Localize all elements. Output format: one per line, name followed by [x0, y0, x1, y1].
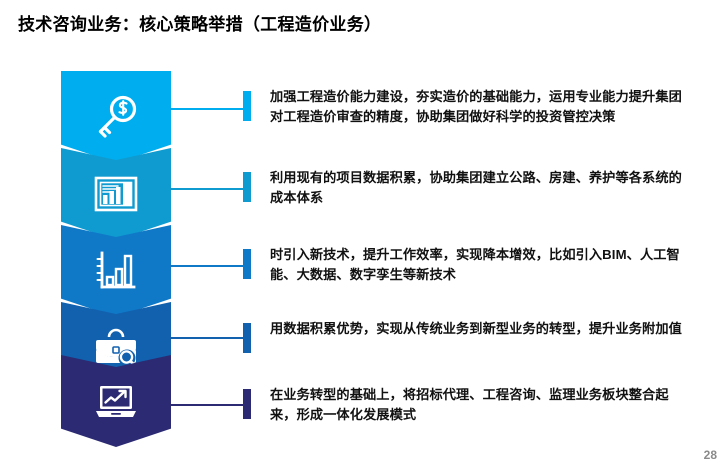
connector-line-4 [171, 337, 244, 339]
text-marker-3 [243, 249, 251, 279]
measure-text-1: 加强工程造价能力建设，夯实造价的基础能力，运用专业能力提升集团对工程造价审查的精… [270, 87, 690, 128]
connector-line-2 [171, 188, 244, 190]
text-marker-4 [243, 323, 251, 353]
page-title: 技术咨询业务：核心策略举措（工程造价业务） [18, 10, 381, 35]
connector-line-1 [171, 108, 244, 110]
text-marker-2 [243, 172, 251, 202]
strategy-chevron-stack [61, 71, 171, 447]
measure-text-4: 用数据积累优势，实现从传统业务到新型业务的转型，提升业务附加值 [270, 319, 690, 339]
measure-text-5: 在业务转型的基础上，将招标代理、工程咨询、监理业务板块整合起来，形成一体化发展模… [270, 385, 690, 426]
page-number: 28 [704, 448, 717, 462]
text-marker-5 [243, 389, 251, 419]
measure-text-3: 时引入新技术，提升工作效率，实现降本增效，比如引入BIM、人工智能、大数据、数字… [270, 245, 690, 286]
connector-line-3 [171, 265, 244, 267]
measure-text-2: 利用现有的项目数据积累，协助集团建立公路、房建、养护等各系统的成本体系 [270, 168, 690, 209]
chevron-shape-5 [61, 355, 171, 447]
chevron-band-5[interactable] [61, 355, 171, 447]
connector-line-5 [171, 404, 244, 406]
text-marker-1 [243, 91, 251, 121]
